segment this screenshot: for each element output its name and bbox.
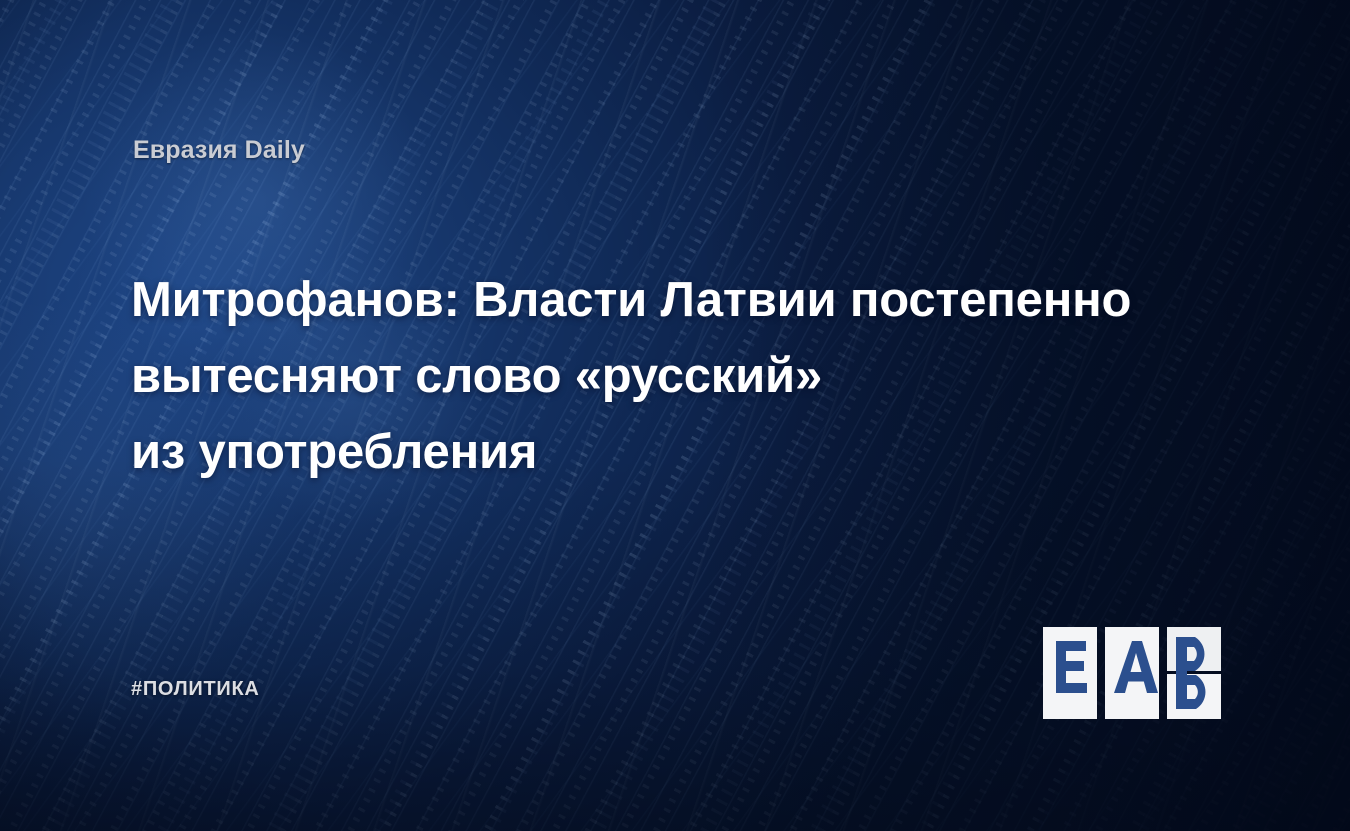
- category-tag-politika[interactable]: #ПОЛИТИКА: [131, 678, 260, 701]
- article-share-card: Евразия Daily Митрофанов: Власти Латвии …: [0, 0, 1350, 831]
- eadaily-logo[interactable]: [1043, 627, 1223, 719]
- headline-line-3: из употребления: [131, 414, 1251, 490]
- card-content: Евразия Daily Митрофанов: Власти Латвии …: [0, 0, 1350, 831]
- article-headline: Митрофанов: Власти Латвии постепенно выт…: [131, 262, 1251, 490]
- brand-wordmark: Евразия Daily: [133, 136, 305, 165]
- headline-line-2: вытесняют слово «русский»: [131, 338, 1251, 414]
- headline-line-1: Митрофанов: Власти Латвии постепенно: [131, 262, 1251, 338]
